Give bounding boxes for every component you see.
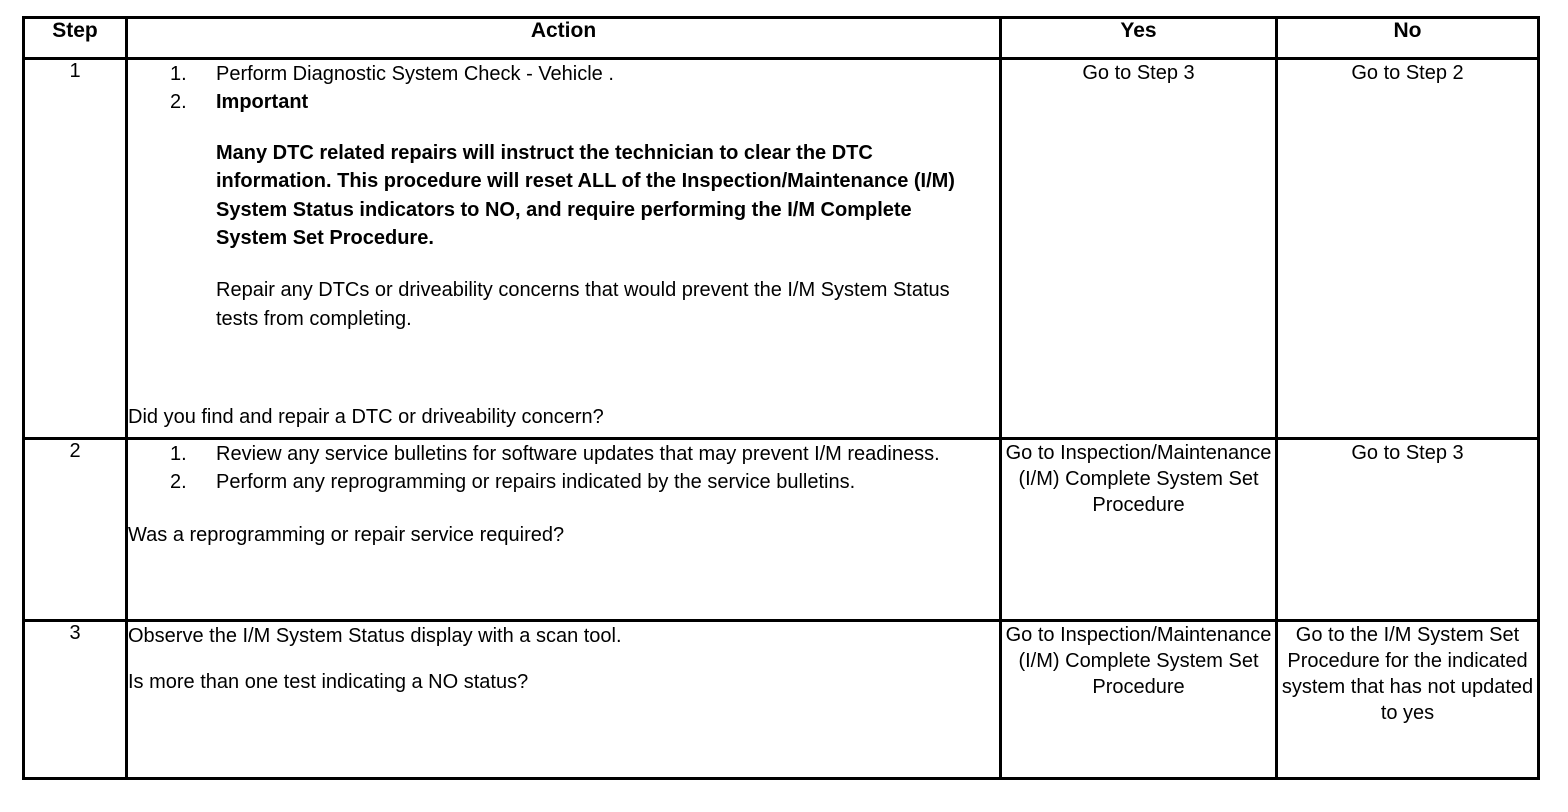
header-row: Step Action Yes No xyxy=(24,18,1539,59)
step-number-cell: 2 xyxy=(24,439,127,621)
diagnostic-steps-table: Step Action Yes No 1 1. Perform Diagnost… xyxy=(22,16,1540,780)
action-cell: 1. Review any service bulletins for soft… xyxy=(127,439,1001,621)
column-header-yes: Yes xyxy=(1001,18,1277,59)
action-lead-text: Observe the I/M System Status display wi… xyxy=(128,622,999,650)
column-header-no: No xyxy=(1277,18,1539,59)
table-row: 1 1. Perform Diagnostic System Check - V… xyxy=(24,59,1539,439)
step-number-cell: 3 xyxy=(24,621,127,779)
ordered-list-item: 2. Important xyxy=(170,88,999,116)
yes-answer-cell: Go to Inspection/Maintenance (I/M) Compl… xyxy=(1001,621,1277,779)
action-question: Is more than one test indicating a NO st… xyxy=(128,668,999,696)
important-note-text: Many DTC related repairs will instruct t… xyxy=(216,139,986,253)
list-item-text: Review any service bulletins for softwar… xyxy=(216,440,999,468)
yes-answer-cell: Go to Step 3 xyxy=(1001,59,1277,439)
no-answer-cell: Go to the I/M System Set Procedure for t… xyxy=(1277,621,1539,779)
no-answer-cell: Go to Step 2 xyxy=(1277,59,1539,439)
list-item-number: 1. xyxy=(170,440,216,468)
list-item-number: 2. xyxy=(170,88,216,116)
action-question: Did you find and repair a DTC or driveab… xyxy=(128,403,999,431)
action-cell: 1. Perform Diagnostic System Check - Veh… xyxy=(127,59,1001,439)
list-item-number: 1. xyxy=(170,60,216,88)
column-header-step: Step xyxy=(24,18,127,59)
ordered-list-item: 1. Review any service bulletins for soft… xyxy=(170,440,999,468)
table-body: 1 1. Perform Diagnostic System Check - V… xyxy=(24,59,1539,779)
action-cell: Observe the I/M System Status display wi… xyxy=(127,621,1001,779)
table-header: Step Action Yes No xyxy=(24,18,1539,59)
step-number-cell: 1 xyxy=(24,59,127,439)
list-item-text: Perform any reprogramming or repairs ind… xyxy=(216,468,999,496)
action-question: Was a reprogramming or repair service re… xyxy=(128,521,999,549)
list-item-number: 2. xyxy=(170,468,216,496)
list-item-text: Important xyxy=(216,88,999,116)
no-answer-cell: Go to Step 3 xyxy=(1277,439,1539,621)
table-row: 2 1. Review any service bulletins for so… xyxy=(24,439,1539,621)
document-page: Step Action Yes No 1 1. Perform Diagnost… xyxy=(0,0,1568,812)
ordered-list-item: 2. Perform any reprogramming or repairs … xyxy=(170,468,999,496)
yes-answer-cell: Go to Inspection/Maintenance (I/M) Compl… xyxy=(1001,439,1277,621)
list-item-text: Perform Diagnostic System Check - Vehicl… xyxy=(216,60,999,88)
repair-note-text: Repair any DTCs or driveability concerns… xyxy=(216,276,976,333)
spacer xyxy=(128,333,999,379)
ordered-list-item: 1. Perform Diagnostic System Check - Veh… xyxy=(170,60,999,88)
column-header-action: Action xyxy=(127,18,1001,59)
table-row: 3 Observe the I/M System Status display … xyxy=(24,621,1539,779)
